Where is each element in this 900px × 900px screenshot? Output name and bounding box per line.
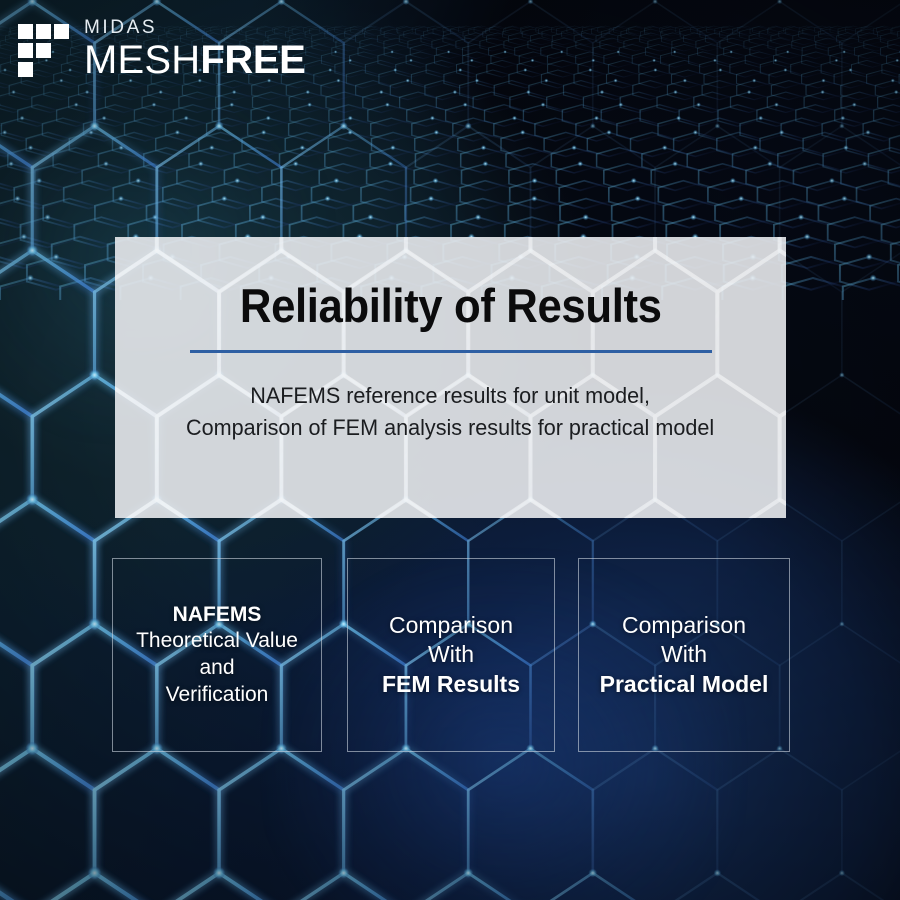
page-subtitle: NAFEMS reference results for unit model,… [186,380,714,444]
brand-product-mesh: MESH [84,38,200,82]
card-2-line-2: With [382,640,520,669]
card-1-line-2: and [136,655,298,682]
brand-logo: MIDAS MESHFREE [18,18,305,80]
card-3-emphasis: Practical Model [600,670,769,699]
card-2-text: Comparison With FEM Results [382,611,520,699]
page-title: Reliability of Results [240,281,662,330]
card-3-line-1: Comparison [600,611,769,640]
page-subtitle-line-2: Comparison of FEM analysis results for p… [186,412,714,444]
card-1-heading: NAFEMS [136,602,298,629]
midas-logo-mark-icon [18,24,70,80]
card-comparison-practical-model[interactable]: Comparison With Practical Model [578,558,790,752]
card-1-text: NAFEMS Theoretical Value and Verificatio… [136,602,298,709]
card-nafems-theoretical-value[interactable]: NAFEMS Theoretical Value and Verificatio… [112,558,322,752]
card-1-line-1: Theoretical Value [136,628,298,655]
brand-logo-text: MIDAS MESHFREE [84,18,305,80]
card-3-line-2: With [600,640,769,669]
brand-product-free: FREE [200,38,305,82]
card-2-line-1: Comparison [382,611,520,640]
feature-card-row: NAFEMS Theoretical Value and Verificatio… [112,558,790,752]
slide-canvas: MIDAS MESHFREE Reliability of Results NA… [0,0,900,900]
card-comparison-fem-results[interactable]: Comparison With FEM Results [347,558,555,752]
headline-panel: Reliability of Results NAFEMS reference … [115,237,786,518]
card-3-text: Comparison With Practical Model [600,611,769,699]
card-1-line-3: Verification [136,682,298,709]
brand-company-name: MIDAS [84,18,305,37]
title-divider [190,350,712,353]
page-subtitle-line-1: NAFEMS reference results for unit model, [186,380,714,412]
card-2-emphasis: FEM Results [382,670,520,699]
brand-product-name: MESHFREE [84,40,305,80]
